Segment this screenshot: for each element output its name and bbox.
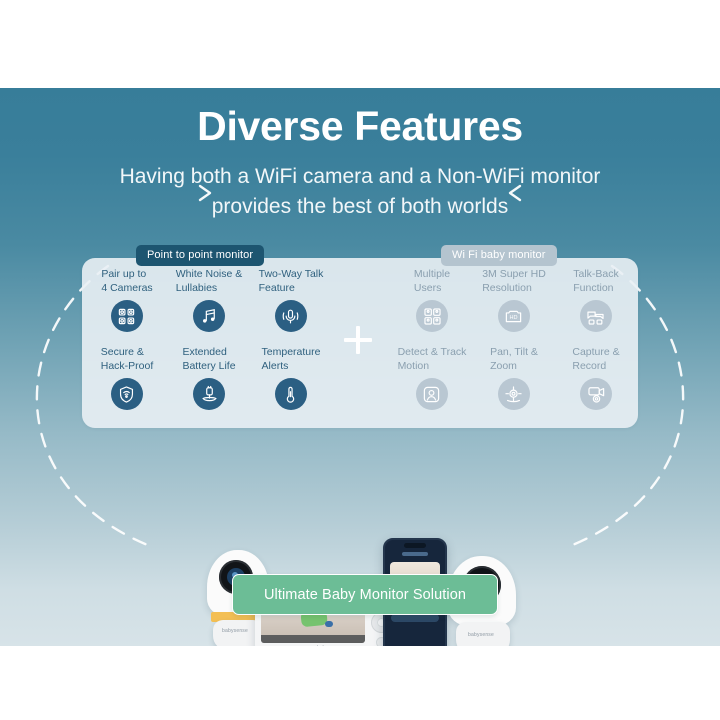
feature-3m-super-hd-resolution[interactable]: 3M Super HD Resolution HD bbox=[482, 268, 546, 346]
feature-label: Pair up to 4 Cameras bbox=[101, 268, 152, 295]
hero-text-block: Diverse Features Having both a WiFi came… bbox=[0, 104, 720, 222]
feature-label: Multiple Users bbox=[414, 268, 450, 295]
feature-label: Secure & Hack-Proof bbox=[101, 346, 154, 373]
feature-pair-up-to-4-cameras[interactable]: Pair up to 4 Cameras bbox=[101, 268, 152, 346]
four-cameras-icon bbox=[111, 300, 143, 332]
feature-pan-tilt-zoom[interactable]: Pan, Tilt & Zoom bbox=[490, 346, 538, 424]
feature-temperature-alerts[interactable]: Temperature Alerts bbox=[262, 346, 321, 424]
feature-column-1: Pair up to 4 Cameras Secure & Hack-Proof bbox=[86, 268, 168, 424]
hero-subtitle-line2: provides the best of both worlds bbox=[0, 192, 720, 222]
pan-tilt-zoom-icon bbox=[498, 378, 530, 410]
feature-label: Talk-Back Function bbox=[573, 268, 619, 295]
feature-multiple-users[interactable]: Multiple Users bbox=[414, 268, 450, 346]
hd-camera-icon: HD bbox=[498, 300, 530, 332]
talk-back-icon bbox=[580, 300, 612, 332]
feature-label: Capture & Record bbox=[572, 346, 619, 373]
feature-capture-record[interactable]: Capture & Record bbox=[572, 346, 619, 424]
cta-banner[interactable]: Ultimate Baby Monitor Solution bbox=[232, 574, 498, 615]
feature-column-5: 3M Super HD Resolution HD Pan, Tilt & Zo… bbox=[473, 268, 555, 424]
camera-left-brand-label: babysense bbox=[222, 628, 248, 634]
monitor-scene-toy bbox=[325, 621, 333, 627]
feature-label: Two-Way Talk Feature bbox=[259, 268, 324, 295]
monitor-scene-baby-leg bbox=[313, 617, 326, 624]
capture-record-icon bbox=[580, 378, 612, 410]
feature-label: Extended Battery Life bbox=[182, 346, 235, 373]
feature-column-6: Talk-Back Function Capture & Record bbox=[555, 268, 637, 424]
plus-divider-icon bbox=[344, 326, 372, 354]
page-title: Diverse Features bbox=[0, 104, 720, 150]
feature-white-noise-lullabies[interactable]: White Noise & Lullabies bbox=[176, 268, 243, 346]
feature-talk-back-function[interactable]: Talk-Back Function bbox=[573, 268, 619, 346]
feature-column-2: White Noise & Lullabies Extended Battery… bbox=[168, 268, 250, 424]
feature-two-way-talk[interactable]: Two-Way Talk Feature bbox=[259, 268, 324, 346]
phone-cta-bar[interactable] bbox=[391, 614, 439, 622]
feature-column-4: Multiple Users Detect & Track bbox=[391, 268, 473, 424]
two-way-talk-icon bbox=[275, 300, 307, 332]
monitor-brand-label: babysense bbox=[317, 645, 341, 646]
feature-extended-battery-life[interactable]: Extended Battery Life bbox=[182, 346, 235, 424]
feature-label: Detect & Track Motion bbox=[398, 346, 467, 373]
feature-group-wifi-monitor: Multiple Users Detect & Track bbox=[391, 268, 637, 424]
badge-point-to-point-monitor: Point to point monitor bbox=[136, 245, 264, 266]
feature-secure-hack-proof[interactable]: Secure & Hack-Proof bbox=[101, 346, 154, 424]
hero-subtitle-line1: Having both a WiFi camera and a Non-WiFi… bbox=[0, 162, 720, 192]
infographic-canvas: babysense bbox=[0, 0, 720, 720]
feature-label: White Noise & Lullabies bbox=[176, 268, 243, 295]
feature-column-3: Two-Way Talk Feature Temperature Alerts bbox=[250, 268, 332, 424]
svg-text:HD: HD bbox=[510, 315, 518, 321]
cta-banner-label: Ultimate Baby Monitor Solution bbox=[264, 587, 466, 603]
phone-app-header bbox=[390, 552, 440, 559]
thermometer-icon bbox=[275, 378, 307, 410]
feature-detect-track-motion[interactable]: Detect & Track Motion bbox=[398, 346, 467, 424]
badge-wifi-baby-monitor: Wi Fi baby monitor bbox=[441, 245, 557, 266]
music-notes-icon bbox=[193, 300, 225, 332]
battery-plug-icon bbox=[193, 378, 225, 410]
feature-label: 3M Super HD Resolution bbox=[482, 268, 546, 295]
feature-label: Temperature Alerts bbox=[262, 346, 321, 373]
feature-label: Pan, Tilt & Zoom bbox=[490, 346, 538, 373]
shield-wifi-icon bbox=[111, 378, 143, 410]
phone-notch bbox=[404, 543, 426, 548]
feature-group-point-to-point: Pair up to 4 Cameras Secure & Hack-Proof bbox=[86, 268, 332, 424]
camera-right-brand-label: babysense bbox=[468, 632, 494, 638]
multiple-users-icon bbox=[416, 300, 448, 332]
hero-subtitle: Having both a WiFi camera and a Non-WiFi… bbox=[0, 162, 720, 222]
monitor-screen-bottombar bbox=[261, 635, 365, 643]
phone-app-title-bar bbox=[402, 552, 428, 556]
motion-detect-icon bbox=[416, 378, 448, 410]
